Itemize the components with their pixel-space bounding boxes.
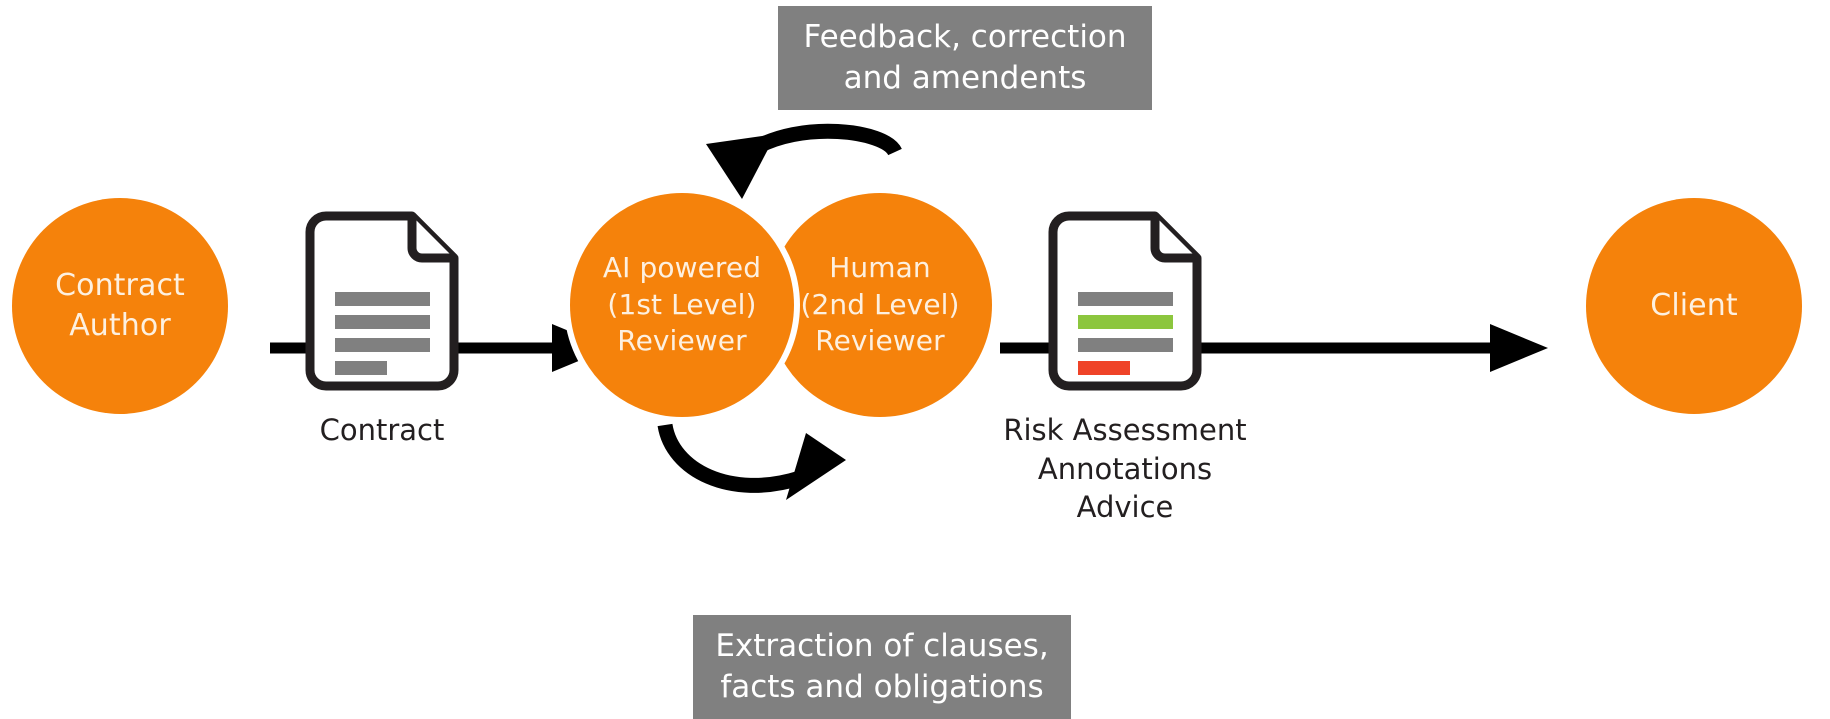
node-contract-author-label: Contract Author: [12, 266, 228, 345]
node-ai-reviewer[interactable]: AI powered (1st Level) Reviewer: [570, 193, 794, 417]
node-contract-author[interactable]: Contract Author: [12, 198, 228, 414]
banner-feedback: Feedback, correction and amendents: [778, 6, 1152, 110]
doc-line-1: [335, 292, 430, 306]
diagram-canvas: Contract Author Human (2nd Level) Review…: [0, 0, 1830, 719]
banner-feedback-label: Feedback, correction and amendents: [803, 17, 1126, 99]
banner-extraction: Extraction of clauses, facts and obligat…: [693, 615, 1071, 719]
node-human-reviewer-label: Human (2nd Level) Reviewer: [768, 250, 992, 361]
doc-line-3: [335, 338, 430, 352]
node-client-label: Client: [1586, 286, 1802, 326]
doc-line-2-green: [1078, 315, 1173, 329]
node-ai-reviewer-label: AI powered (1st Level) Reviewer: [570, 250, 794, 361]
document-icon[interactable]: [1043, 206, 1207, 396]
doc-line-4-red: [1078, 361, 1130, 375]
arrow-risk-to-client: [1190, 324, 1548, 372]
node-client[interactable]: Client: [1586, 198, 1802, 414]
doc-line-3-gray: [1078, 338, 1173, 352]
banner-extraction-label: Extraction of clauses, facts and obligat…: [715, 626, 1048, 708]
doc-line-4: [335, 361, 387, 375]
doc-line-2: [335, 315, 430, 329]
doc-line-1-gray: [1078, 292, 1173, 306]
node-human-reviewer[interactable]: Human (2nd Level) Reviewer: [768, 193, 992, 417]
caption-contract: Contract: [262, 411, 502, 450]
document-icon[interactable]: [300, 206, 464, 396]
caption-risk-assessment: Risk Assessment Annotations Advice: [975, 411, 1275, 527]
